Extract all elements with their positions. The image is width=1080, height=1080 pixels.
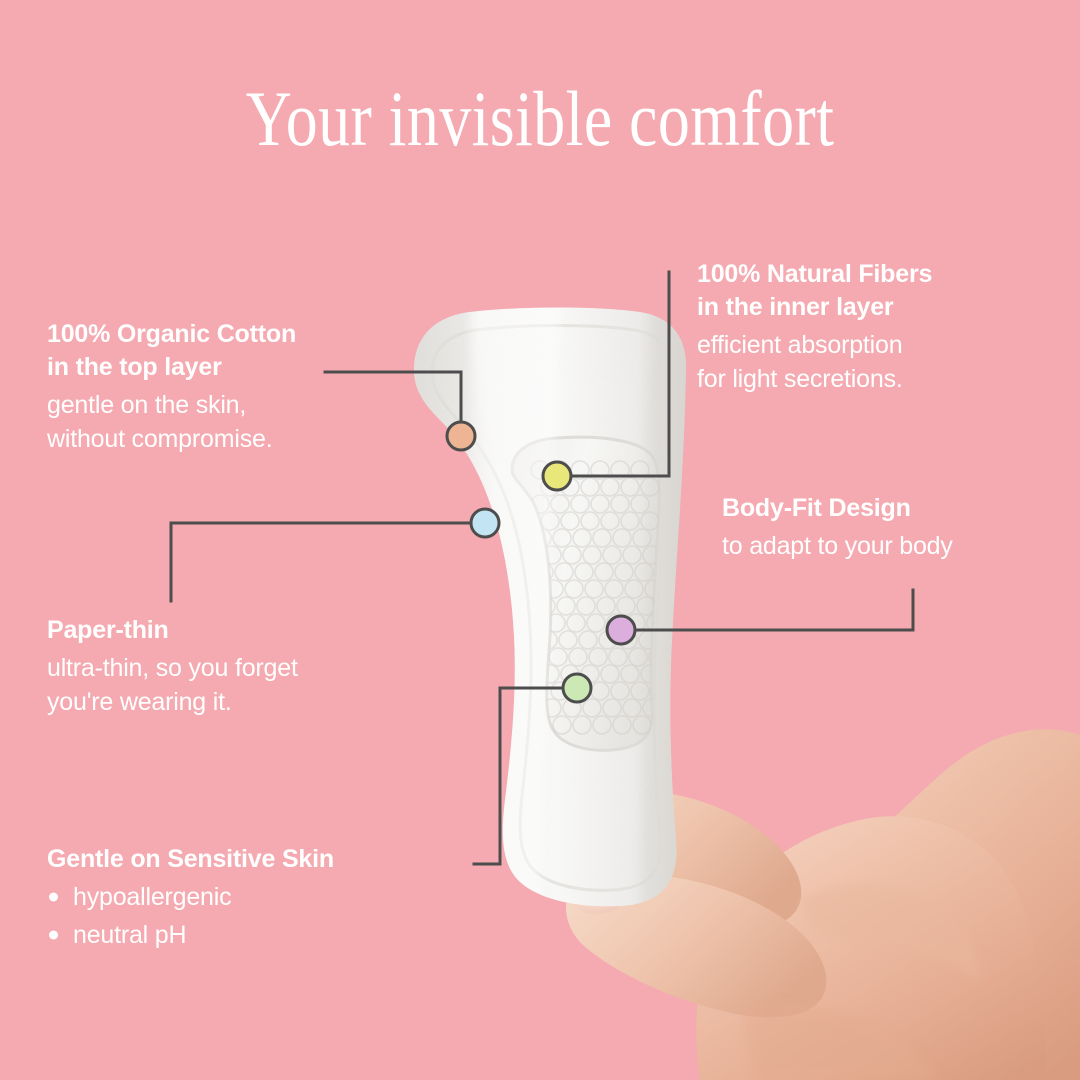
- sanitary-pad: [400, 300, 700, 920]
- callout-heading: 100% Natural Fibers in the inner layer: [697, 258, 1047, 324]
- list-item: neutral pH: [47, 916, 467, 954]
- callout-subtext: gentle on the skin, without compromise.: [47, 388, 407, 456]
- callout-gentle-skin: Gentle on Sensitive Skin hypoallergenic …: [47, 843, 467, 954]
- infographic-canvas: Your invisible comfort 100% Organic Cott…: [0, 0, 1080, 1080]
- callout-heading: Gentle on Sensitive Skin: [47, 843, 467, 876]
- callout-heading: Paper-thin: [47, 614, 427, 647]
- callout-heading: Body-Fit Design: [722, 492, 1062, 525]
- callout-natural-fibers: 100% Natural Fibers in the inner layer e…: [697, 258, 1047, 396]
- callout-paper-thin: Paper-thin ultra-thin, so you forget you…: [47, 614, 427, 719]
- bullet-icon: [49, 893, 58, 902]
- callout-body-fit: Body-Fit Design to adapt to your body: [722, 492, 1062, 563]
- callout-organic-cotton: 100% Organic Cotton in the top layer gen…: [47, 318, 407, 456]
- list-item-label: hypoallergenic: [73, 883, 231, 911]
- callout-heading: 100% Organic Cotton in the top layer: [47, 318, 407, 384]
- page-title: Your invisible comfort: [97, 78, 983, 160]
- list-item-label: neutral pH: [73, 921, 186, 949]
- callout-subtext: ultra-thin, so you forget you're wearing…: [47, 651, 427, 719]
- callout-subtext: to adapt to your body: [722, 529, 1062, 563]
- bullet-icon: [49, 931, 58, 940]
- callout-bullet-list: hypoallergenic neutral pH: [47, 878, 467, 954]
- callout-subtext: efficient absorption for light secretion…: [697, 328, 1047, 396]
- list-item: hypoallergenic: [47, 878, 467, 916]
